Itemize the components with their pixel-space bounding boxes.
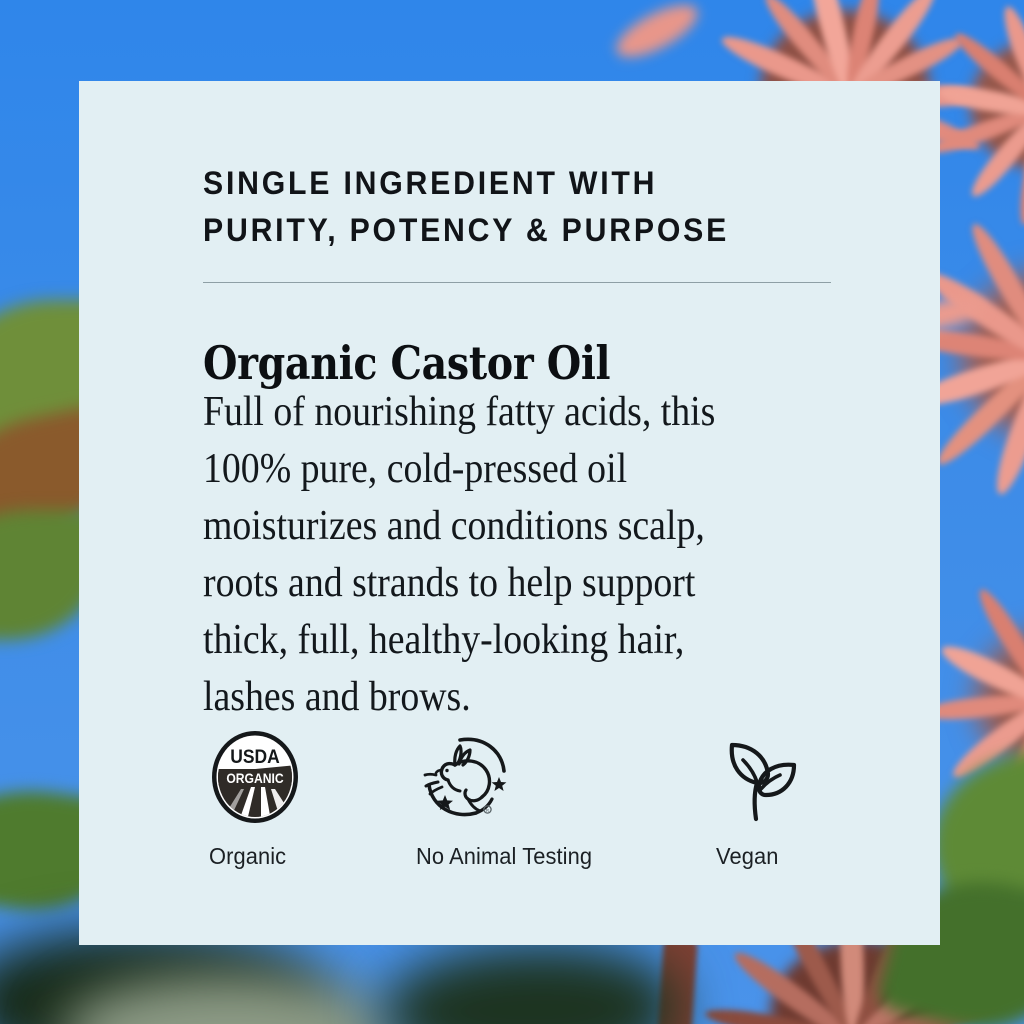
badge-vegan: Vegan: [602, 729, 863, 870]
badge-label-no-animal-testing: No Animal Testing: [416, 843, 592, 870]
badge-label-vegan: Vegan: [716, 843, 778, 870]
info-card: SINGLE INGREDIENT WITH PURITY, POTENCY &…: [79, 81, 940, 945]
page-title: Organic Castor Oil: [203, 336, 610, 390]
badge-label-organic: Organic: [209, 843, 286, 870]
leaping-bunny-cruelty-free-icon: R: [416, 729, 516, 825]
seal-top-text: USDA: [230, 745, 280, 767]
divider-rule: [203, 282, 831, 283]
seal-bottom-text: ORGANIC: [226, 770, 283, 786]
badge-organic: USDA ORGANIC Organic: [203, 729, 356, 870]
usda-organic-seal-icon: USDA ORGANIC: [209, 729, 301, 825]
body-description: Full of nourishing fatty acids, this 100…: [203, 384, 833, 726]
eyebrow-text: SINGLE INGREDIENT WITH PURITY, POTENCY &…: [203, 160, 817, 254]
vegan-leaf-icon: [716, 729, 808, 825]
certification-badge-row: USDA ORGANIC Organic: [203, 729, 863, 870]
badge-no-animal-testing: R No Animal Testing: [356, 729, 601, 870]
product-ingredient-card-image: SINGLE INGREDIENT WITH PURITY, POTENCY &…: [0, 0, 1024, 1024]
registered-mark: R: [486, 808, 489, 813]
